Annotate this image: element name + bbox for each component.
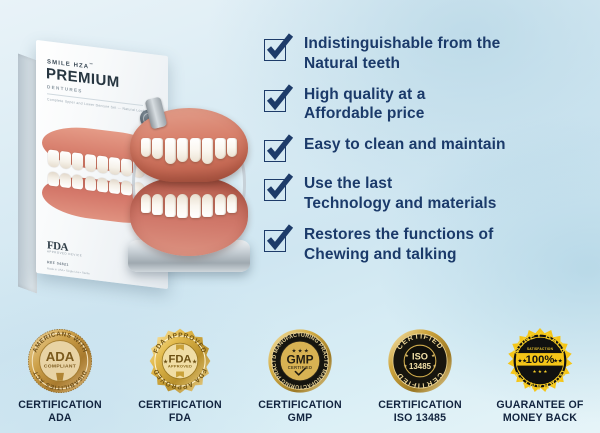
box-trademark: ™ bbox=[89, 62, 94, 67]
certification-fda: FDA APPROVED FDA APPROVED FDA APPROVED ★… bbox=[121, 328, 239, 425]
benefit-text: Use the last Technology and materials bbox=[304, 174, 496, 214]
svg-text:CERTIFIED: CERTIFIED bbox=[288, 365, 313, 370]
denture-model bbox=[126, 90, 252, 275]
box-ref-sub: Made in USA • Single Use • Sterile bbox=[47, 266, 90, 275]
svg-text:SATISFACTION: SATISFACTION bbox=[527, 347, 554, 351]
svg-text:★ ★ ★: ★ ★ ★ bbox=[533, 369, 549, 374]
benefit-text: Restores the functions of Chewing and ta… bbox=[304, 225, 493, 265]
certification-gmp: GOOD MANUFACTURING PRACTICE GOOD MANUFAC… bbox=[241, 328, 359, 425]
checkbox-checked-icon bbox=[264, 227, 290, 253]
iso-caption-line2: ISO 13485 bbox=[378, 412, 462, 425]
certification-ada: AMERICANS WITH DISABILITIES ACT ADA COMP… bbox=[1, 328, 119, 425]
svg-text:★★: ★★ bbox=[517, 358, 527, 364]
svg-text:★: ★ bbox=[163, 359, 168, 366]
money-back-caption-line2: MONEY BACK bbox=[496, 412, 583, 425]
svg-text:★: ★ bbox=[192, 359, 197, 366]
svg-text:ADA: ADA bbox=[46, 349, 75, 364]
benefit-item: Indistinguishable from the Natural teeth bbox=[264, 34, 594, 74]
fda-caption: CERTIFICATION FDA bbox=[138, 399, 222, 425]
iso-caption-line1: CERTIFICATION bbox=[378, 399, 462, 412]
benefit-line: Technology and materials bbox=[304, 194, 496, 214]
benefit-line: Use the last bbox=[304, 174, 496, 194]
iso-caption: CERTIFICATION ISO 13485 bbox=[378, 399, 462, 425]
svg-text:13485: 13485 bbox=[409, 362, 432, 371]
gmp-badge-icon: GOOD MANUFACTURING PRACTICE GOOD MANUFAC… bbox=[267, 328, 333, 394]
benefit-item: Restores the functions of Chewing and ta… bbox=[264, 225, 594, 265]
checkbox-checked-icon bbox=[264, 36, 290, 62]
svg-text:100%: 100% bbox=[526, 354, 555, 366]
benefits-list: Indistinguishable from the Natural teeth… bbox=[264, 34, 594, 265]
money-back-caption: GUARANTEE OF MONEY BACK bbox=[496, 399, 583, 425]
svg-text:★★: ★★ bbox=[553, 358, 563, 364]
fda-caption-line1: CERTIFICATION bbox=[138, 399, 222, 412]
benefit-line: Indistinguishable from the bbox=[304, 34, 500, 54]
gmp-caption: CERTIFICATION GMP bbox=[258, 399, 342, 425]
benefit-item: Easy to clean and maintain bbox=[264, 135, 594, 163]
certifications-row: AMERICANS WITH DISABILITIES ACT ADA COMP… bbox=[0, 328, 600, 433]
ada-badge-icon: AMERICANS WITH DISABILITIES ACT ADA COMP… bbox=[27, 328, 93, 394]
iso-badge-icon: CERTIFIED CERTIFIED ISO 13485 ★ ★ ★ ★ bbox=[387, 328, 453, 394]
gmp-caption-line1: CERTIFICATION bbox=[258, 399, 342, 412]
product-box-side-panel: SMILE HZA PREMIUM DENTURES bbox=[18, 54, 37, 294]
fda-badge-icon: FDA APPROVED FDA APPROVED FDA APPROVED ★… bbox=[147, 328, 213, 394]
checkbox-checked-icon bbox=[264, 87, 290, 113]
lower-teeth-arch bbox=[138, 194, 240, 218]
checkbox-checked-icon bbox=[264, 176, 290, 202]
ada-caption-line2: ADA bbox=[18, 412, 102, 425]
denture-lower-jaw bbox=[130, 178, 248, 256]
benefit-line: Chewing and talking bbox=[304, 245, 493, 265]
benefit-line: High quality at a bbox=[304, 85, 425, 105]
svg-text:APPROVED: APPROVED bbox=[168, 364, 192, 369]
benefit-line: Affordable price bbox=[304, 104, 425, 124]
ada-caption: CERTIFICATION ADA bbox=[18, 399, 102, 425]
benefit-text: Easy to clean and maintain bbox=[304, 135, 506, 155]
svg-text:COMPLIANT: COMPLIANT bbox=[44, 364, 76, 370]
product-imagery: SMILE HZA PREMIUM DENTURES SMILE HZA™ PR… bbox=[8, 38, 258, 293]
certification-money-back: MONEY BACK GUARANTEE SATISFACTION 100% ★… bbox=[481, 328, 599, 425]
denture-upper-jaw bbox=[130, 108, 248, 182]
benefit-text: Indistinguishable from the Natural teeth bbox=[304, 34, 500, 74]
money-back-caption-line1: GUARANTEE OF bbox=[496, 399, 583, 412]
svg-text:ISO: ISO bbox=[412, 352, 428, 362]
checkbox-checked-icon bbox=[264, 137, 290, 163]
benefit-line: Restores the functions of bbox=[304, 225, 493, 245]
certification-iso: CERTIFIED CERTIFIED ISO 13485 ★ ★ ★ ★ bbox=[361, 328, 479, 425]
promo-banner: SMILE HZA PREMIUM DENTURES SMILE HZA™ PR… bbox=[0, 0, 600, 433]
benefit-item: Use the last Technology and materials bbox=[264, 174, 594, 214]
benefit-item: High quality at a Affordable price bbox=[264, 85, 594, 125]
gmp-caption-line2: GMP bbox=[258, 412, 342, 425]
benefit-line: Easy to clean and maintain bbox=[304, 135, 506, 155]
benefit-text: High quality at a Affordable price bbox=[304, 85, 425, 125]
benefit-line: Natural teeth bbox=[304, 54, 500, 74]
upper-teeth-arch bbox=[138, 138, 240, 164]
fda-caption-line2: FDA bbox=[138, 412, 222, 425]
ada-caption-line1: CERTIFICATION bbox=[18, 399, 102, 412]
money-back-badge-icon: MONEY BACK GUARANTEE SATISFACTION 100% ★… bbox=[507, 328, 573, 394]
